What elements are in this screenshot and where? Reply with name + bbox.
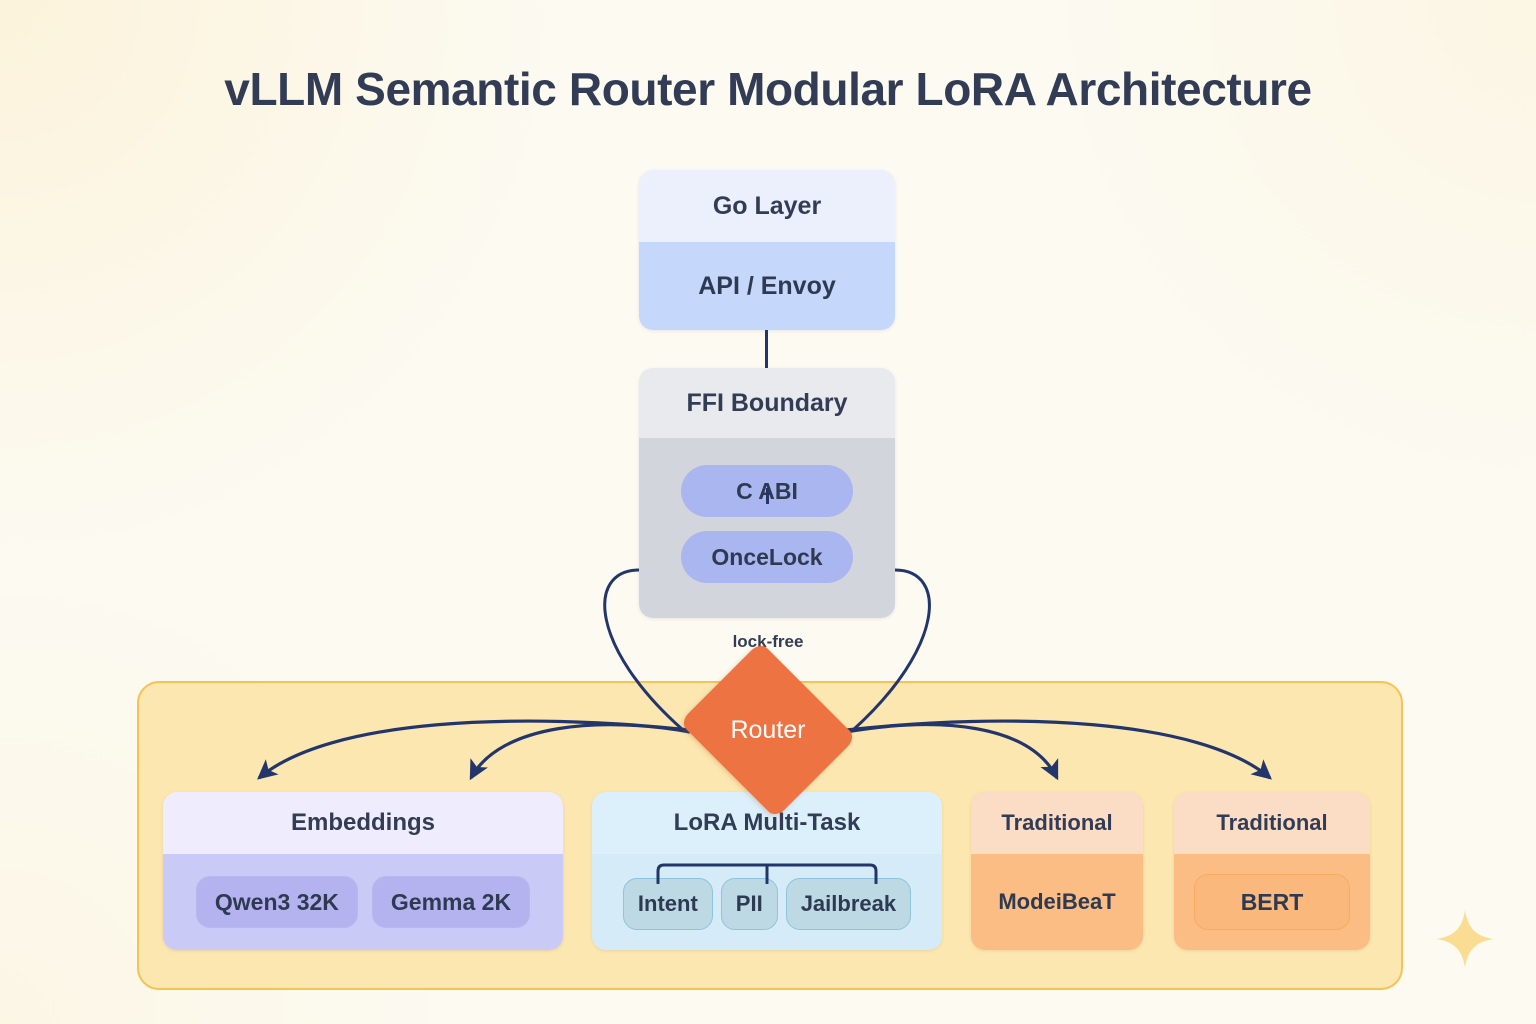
sparkle-four-point-icon	[1432, 906, 1498, 972]
edge-c-abi-to-oncelock	[766, 488, 769, 504]
pill-gemma-2k[interactable]: Gemma 2K	[372, 876, 530, 928]
node-lora-multitask[interactable]: LoRA Multi-Task Intent PII Jailbreak	[592, 792, 942, 950]
pill-intent[interactable]: Intent	[623, 878, 713, 930]
edge-go-layer-to-ffi-boundary	[765, 330, 768, 368]
node-ffi-boundary[interactable]: FFI Boundary C ABI OnceLock	[639, 368, 895, 618]
node-lora-multitask-body: Intent PII Jailbreak	[592, 854, 942, 950]
node-go-layer[interactable]: Go Layer API / Envoy	[639, 170, 895, 330]
node-traditional-bert-body: BERT	[1174, 854, 1370, 950]
pill-qwen3-32k[interactable]: Qwen3 32K	[196, 876, 358, 928]
node-router[interactable]: Router	[683, 676, 853, 784]
node-go-layer-body: API / Envoy	[639, 242, 895, 330]
node-traditional-modelbeat-header: Traditional	[971, 792, 1143, 854]
pill-jailbreak[interactable]: Jailbreak	[786, 878, 911, 930]
node-traditional-modelbeat-body: ModeiBeaT	[971, 854, 1143, 950]
node-traditional-modelbeat-label: ModeiBeaT	[998, 889, 1115, 915]
node-traditional-bert-header: Traditional	[1174, 792, 1370, 854]
node-embeddings[interactable]: Embeddings Qwen3 32K Gemma 2K	[163, 792, 563, 950]
node-go-layer-header: Go Layer	[639, 170, 895, 242]
node-traditional-modelbeat[interactable]: Traditional ModeiBeaT	[971, 792, 1143, 950]
node-embeddings-header: Embeddings	[163, 792, 563, 854]
node-traditional-bert[interactable]: Traditional BERT	[1174, 792, 1370, 950]
node-ffi-boundary-header: FFI Boundary	[639, 368, 895, 438]
pill-oncelock[interactable]: OnceLock	[681, 531, 853, 583]
node-embeddings-body: Qwen3 32K Gemma 2K	[163, 854, 563, 950]
node-router-label: Router	[730, 716, 805, 745]
page-title: vLLM Semantic Router Modular LoRA Archit…	[0, 62, 1536, 116]
pill-bert[interactable]: BERT	[1194, 874, 1350, 930]
diagram-canvas: vLLM Semantic Router Modular LoRA Archit…	[0, 0, 1536, 1024]
node-go-layer-body-label: API / Envoy	[698, 272, 836, 301]
node-ffi-boundary-body: C ABI OnceLock	[639, 438, 895, 618]
pill-pii[interactable]: PII	[721, 878, 778, 930]
